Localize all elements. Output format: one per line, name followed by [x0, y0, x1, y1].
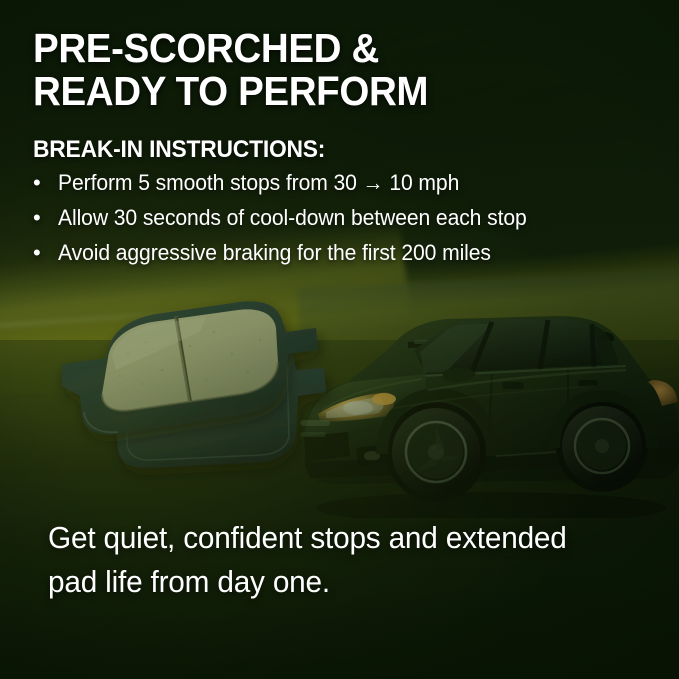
break-in-instructions-heading: BREAK-IN INSTRUCTIONS: — [33, 136, 325, 164]
bullet-dot-icon: • — [33, 207, 58, 229]
list-item-label: Allow 30 seconds of cool-down between ea… — [58, 205, 610, 231]
headline: PRE-SCORCHED & READY TO PERFORM — [33, 27, 428, 112]
bullet-dot-icon: • — [33, 172, 58, 194]
text-overlay: PRE-SCORCHED & READY TO PERFORM BREAK-IN… — [0, 0, 679, 679]
break-in-instructions-list: • Perform 5 smooth stops from 30 → 10 mp… — [33, 170, 633, 275]
list-item: • Allow 30 seconds of cool-down between … — [33, 205, 633, 231]
list-item-label: Perform 5 smooth stops from 30 → 10 mph — [58, 170, 610, 196]
tagline: Get quiet, confident stops and extended … — [48, 516, 567, 604]
list-item-label: Avoid aggressive braking for the first 2… — [58, 240, 610, 266]
list-item: • Perform 5 smooth stops from 30 → 10 mp… — [33, 170, 633, 196]
infographic-canvas: PRE-SCORCHED & READY TO PERFORM BREAK-IN… — [0, 0, 679, 679]
bullet-dot-icon: • — [33, 242, 58, 264]
list-item: • Avoid aggressive braking for the first… — [33, 240, 633, 266]
